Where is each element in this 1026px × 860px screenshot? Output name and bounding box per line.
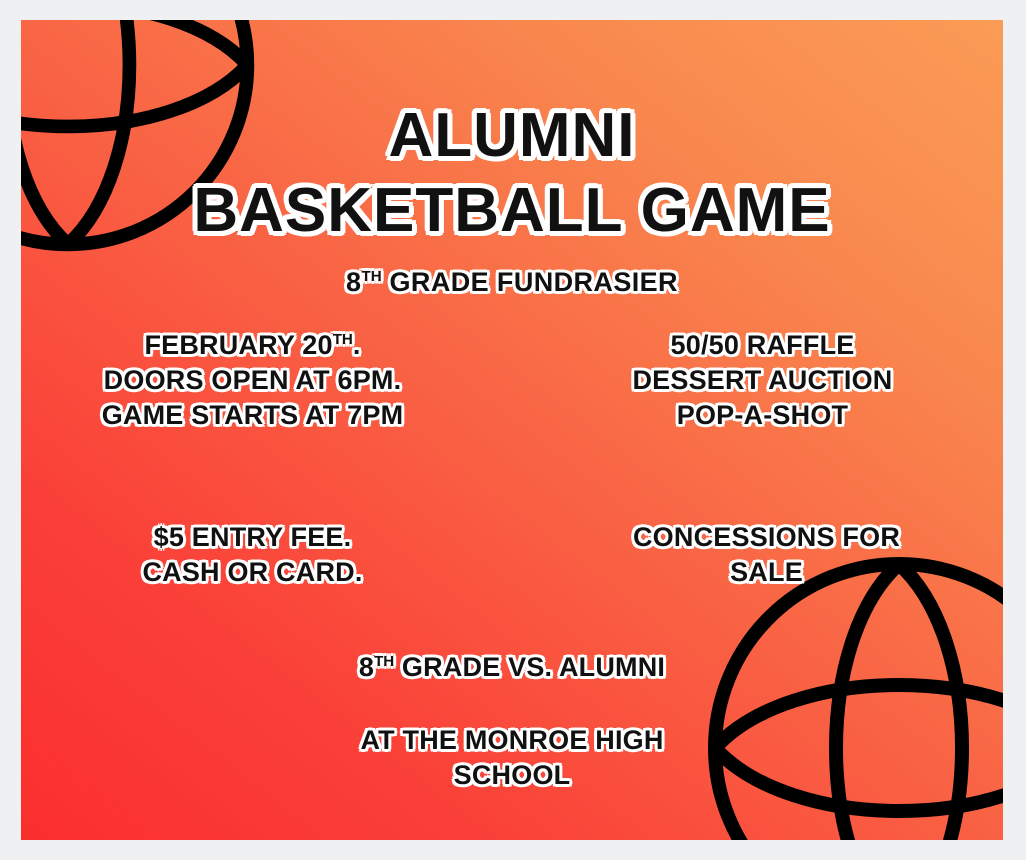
raffle-line: 50/50 RAFFLE: [522, 328, 1003, 363]
event-date-line: FEBRUARY 20TH.: [21, 328, 484, 363]
activities-block: 50/50 RAFFLE DESSERT AUCTION POP-A-SHOT: [512, 328, 1003, 433]
venue-line-1: AT THE MONROE HIGH: [21, 723, 1003, 758]
matchup-rest: GRADE VS. ALUMNI: [394, 652, 665, 682]
game-start-line: GAME STARTS AT 7PM: [21, 398, 484, 433]
payment-methods-line: CASH OR CARD.: [21, 555, 484, 590]
subtitle-grade-number: 8: [346, 267, 361, 297]
date-time-block: FEBRUARY 20TH. DOORS OPEN AT 6PM. GAME S…: [21, 328, 512, 433]
event-date-prefix: FEBRUARY 20: [144, 330, 332, 360]
subtitle-ordinal-suffix: TH: [361, 268, 381, 285]
matchup-ordinal-suffix: TH: [374, 653, 394, 670]
event-poster: ALUMNI BASKETBALL GAME 8TH GRADE FUNDRAS…: [21, 20, 1003, 840]
poster-title-line-1: ALUMNI: [21, 102, 1003, 170]
poster-title-line-2: BASKETBALL GAME: [21, 176, 1003, 246]
venue-group: AT THE MONROE HIGH SCHOOL: [21, 723, 1003, 793]
venue-line-2: SCHOOL: [21, 758, 1003, 793]
matchup-grade-number: 8: [359, 652, 374, 682]
matchup-line: 8TH GRADE VS. ALUMNI: [21, 650, 1003, 685]
info-row-primary: FEBRUARY 20TH. DOORS OPEN AT 6PM. GAME S…: [21, 328, 1003, 433]
concessions-block: CONCESSIONS FOR SALE: [512, 520, 1003, 590]
poster-stage: ALUMNI BASKETBALL GAME 8TH GRADE FUNDRAS…: [0, 0, 1026, 860]
event-date-suffix: .: [353, 330, 361, 360]
dessert-auction-line: DESSERT AUCTION: [522, 363, 1003, 398]
doors-open-line: DOORS OPEN AT 6PM.: [21, 363, 484, 398]
pop-a-shot-line: POP-A-SHOT: [522, 398, 1003, 433]
entry-fee-block: $5 ENTRY FEE. CASH OR CARD.: [21, 520, 512, 590]
concessions-line-1: CONCESSIONS FOR: [530, 520, 1003, 555]
concessions-line-2: SALE: [530, 555, 1003, 590]
event-date-ordinal: TH: [333, 331, 353, 348]
subtitle-rest: GRADE FUNDRASIER: [382, 267, 678, 297]
footer-block: 8TH GRADE VS. ALUMNI AT THE MONROE HIGH …: [21, 650, 1003, 793]
poster-subtitle: 8TH GRADE FUNDRASIER: [21, 266, 1003, 298]
info-row-secondary: $5 ENTRY FEE. CASH OR CARD. CONCESSIONS …: [21, 520, 1003, 590]
headline-block: ALUMNI BASKETBALL GAME 8TH GRADE FUNDRAS…: [21, 102, 1003, 298]
entry-fee-line: $5 ENTRY FEE.: [21, 520, 484, 555]
